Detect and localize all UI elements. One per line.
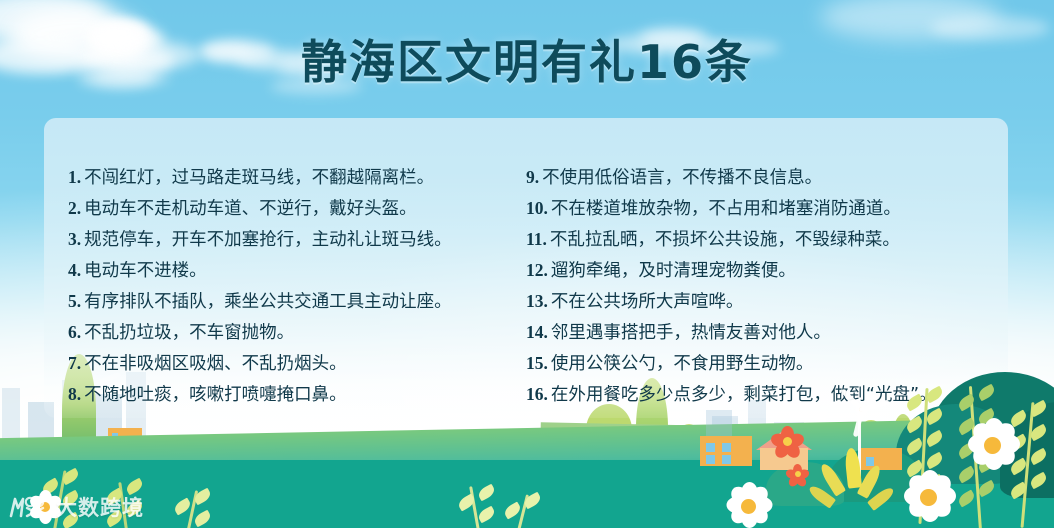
rule-item: 8. 不随地吐痰，咳嗽打喷嚏掩口鼻。 (68, 379, 502, 410)
rule-text: 规范停车，开车不加塞抢行，主动礼让斑马线。 (84, 225, 452, 255)
rule-text: 遛狗牵绳，及时清理宠物粪便。 (551, 256, 796, 286)
rule-item: 10. 不在楼道堆放杂物，不占用和堵塞消防通道。 (526, 193, 1008, 224)
rules-container: 1. 不闯红灯，过马路走斑马线，不翻越隔离栏。 2. 电动车不走机动车道、不逆行… (44, 118, 1008, 418)
rule-number: 13. (526, 286, 548, 316)
page-title: 静海区文明有礼16条 (301, 26, 753, 92)
rule-item: 4. 电动车不进楼。 (68, 255, 502, 286)
daisy-flower-icon (896, 470, 964, 528)
rule-item: 12. 遛狗牵绳，及时清理宠物粪便。 (526, 255, 1008, 286)
house-icon (108, 428, 142, 444)
house-window-icon (722, 455, 731, 464)
bush-icon (766, 462, 844, 506)
house-window-icon (706, 443, 715, 452)
rule-number: 7. (68, 348, 81, 378)
page-title-wrap: 静海区文明有礼16条 (0, 26, 1054, 92)
rule-number: 6. (68, 317, 81, 347)
tree-icon (856, 420, 886, 458)
daisy-flower-icon (960, 418, 1028, 486)
rule-text: 使用公筷公勺，不食用野生动物。 (551, 349, 814, 379)
leafy-vine-icon (168, 484, 224, 528)
tree-icon (676, 424, 702, 458)
rule-number: 10. (526, 193, 548, 223)
rule-item: 16. 在外用餐吃多少点多少，剩菜打包，做到“光盘”。 (526, 379, 1008, 410)
bush-icon (1000, 402, 1054, 498)
house-window-icon (706, 455, 715, 464)
rule-number: 1. (68, 162, 81, 192)
red-flower-icon (788, 464, 808, 484)
house-icon (760, 448, 808, 470)
ground-dark-band (0, 460, 1054, 528)
rule-text: 有序排队不插队，乘坐公共交通工具主动让座。 (84, 287, 452, 317)
rule-number: 15. (526, 348, 548, 378)
rule-item: 3. 规范停车，开车不加塞抢行，主动礼让斑马线。 (68, 224, 502, 255)
rule-text: 不随地吐痰，咳嗽打喷嚏掩口鼻。 (84, 380, 347, 410)
rule-item: 9. 不使用低俗语言，不传播不良信息。 (526, 162, 1008, 193)
building-icon (2, 388, 20, 442)
rule-number: 16. (526, 379, 548, 409)
rule-item: 15. 使用公筷公勺，不食用野生动物。 (526, 348, 1008, 379)
tree-icon (892, 414, 914, 460)
ground-mid-band (0, 417, 1054, 493)
leafy-vine-icon (452, 480, 508, 528)
house-roof-icon (756, 430, 812, 450)
rule-text: 电动车不进楼。 (84, 256, 207, 286)
rule-number: 12. (526, 255, 548, 285)
building-icon (712, 416, 738, 456)
rule-item: 14. 邻里遇事搭把手，热情友善对他人。 (526, 317, 1008, 348)
rule-number: 9. (526, 162, 539, 192)
rule-item: 5. 有序排队不插队，乘坐公共交通工具主动让座。 (68, 286, 502, 317)
rule-number: 5. (68, 286, 81, 316)
rule-item: 6. 不乱扔垃圾，不车窗抛物。 (68, 317, 502, 348)
daisy-flower-icon (720, 482, 780, 528)
rule-item: 7. 不在非吸烟区吸烟、不乱扔烟头。 (68, 348, 502, 379)
rule-number: 11. (526, 224, 547, 254)
rule-item: 13. 不在公共场所大声喧哗。 (526, 286, 1008, 317)
watermark-text: 大数跨境 (56, 492, 144, 522)
rule-item: 1. 不闯红灯，过马路走斑马线，不翻越隔离栏。 (68, 162, 502, 193)
leafy-vine-icon (1004, 398, 1054, 528)
plant-icon (812, 438, 902, 528)
kuajing-logo-icon (8, 495, 50, 519)
rule-number: 2. (68, 193, 81, 223)
house-window-icon (112, 433, 118, 440)
rule-text: 不乱拉乱晒，不损坏公共设施，不毁绿种菜。 (550, 225, 900, 255)
rule-text: 在外用餐吃多少点多少，剩菜打包，做到“光盘”。 (551, 380, 937, 410)
rule-text: 不在公共场所大声喧哗。 (551, 287, 744, 317)
rule-text: 电动车不走机动车道、不逆行，戴好头盔。 (84, 194, 417, 224)
rule-text: 不使用低俗语言，不传播不良信息。 (542, 163, 822, 193)
rule-text: 邻里遇事搭把手，热情友善对他人。 (551, 318, 831, 348)
building-icon (774, 422, 804, 456)
rule-number: 14. (526, 317, 548, 347)
rules-column-right: 9. 不使用低俗语言，不传播不良信息。 10. 不在楼道堆放杂物，不占用和堵塞消… (502, 162, 1008, 418)
rule-text: 不在非吸烟区吸烟、不乱扔烟头。 (84, 349, 347, 379)
house-icon (700, 436, 752, 466)
poster-canvas: 静海区文明有礼16条 1. 不闯红灯，过马路走斑马线，不翻越隔离栏。 2. 电动… (0, 0, 1054, 528)
rule-number: 3. (68, 224, 81, 254)
house-window-icon (866, 457, 874, 466)
watermark: 大数跨境 (8, 492, 144, 522)
rule-text: 不闯红灯，过马路走斑马线，不翻越隔离栏。 (84, 163, 434, 193)
rule-item: 11. 不乱拉乱晒，不损坏公共设施，不毁绿种菜。 (526, 224, 1008, 255)
rule-item: 2. 电动车不走机动车道、不逆行，戴好头盔。 (68, 193, 502, 224)
rule-text: 不乱扔垃圾，不车窗抛物。 (84, 318, 294, 348)
bush-icon (828, 448, 924, 502)
house-window-icon (722, 443, 731, 452)
rule-number: 8. (68, 379, 81, 409)
rule-number: 4. (68, 255, 81, 285)
red-flower-icon (772, 426, 802, 456)
ground-light-band (539, 422, 1054, 504)
house-icon (860, 448, 902, 470)
rules-column-left: 1. 不闯红灯，过马路走斑马线，不翻越隔离栏。 2. 电动车不走机动车道、不逆行… (44, 162, 502, 418)
leafy-vine-icon (498, 488, 554, 528)
rule-text: 不在楼道堆放杂物，不占用和堵塞消防通道。 (551, 194, 901, 224)
